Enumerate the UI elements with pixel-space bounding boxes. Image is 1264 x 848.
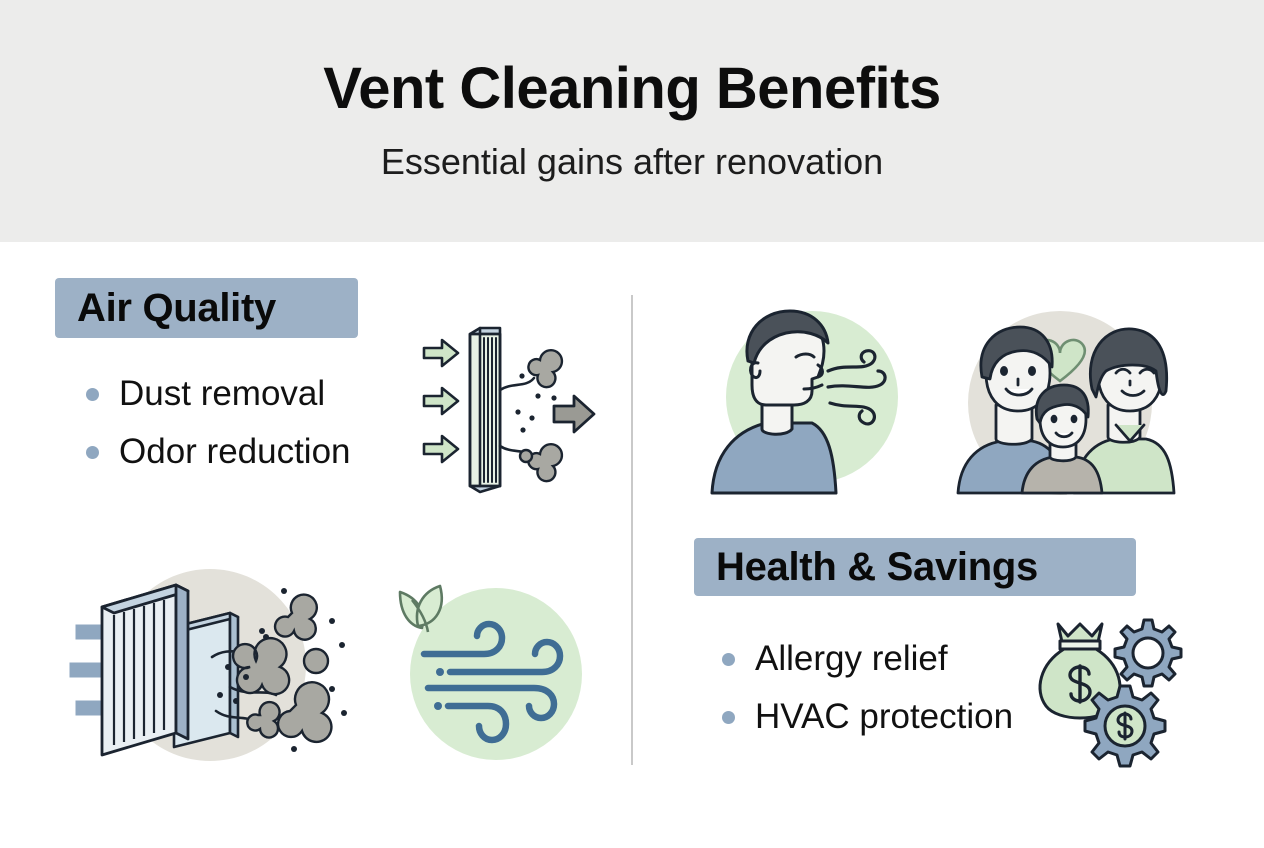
header-band: Vent Cleaning Benefits Essential gains a… <box>0 0 1264 242</box>
air-filter-dust-icon <box>70 565 370 780</box>
page-subtitle: Essential gains after renovation <box>381 141 883 183</box>
dust-blob <box>528 350 562 387</box>
list-item: Allergy relief <box>722 630 1013 688</box>
bullet-dot-icon <box>86 446 99 459</box>
page-title: Vent Cleaning Benefits <box>323 59 940 120</box>
gear-dollar-icon <box>1085 686 1165 766</box>
bullet-dot-icon <box>722 653 735 666</box>
section-heading-label: Air Quality <box>77 286 276 331</box>
bullet-dot-icon <box>86 388 99 401</box>
list-item-label: Allergy relief <box>755 639 948 679</box>
list-item-label: Dust removal <box>119 374 325 414</box>
list-item: Dust removal <box>86 365 351 423</box>
outgoing-dust-arrow <box>554 396 594 432</box>
section-heading-health-savings: Health & Savings <box>694 538 1136 596</box>
infographic-canvas: Vent Cleaning Benefits Essential gains a… <box>0 0 1264 848</box>
list-item-label: HVAC protection <box>755 697 1013 737</box>
gear-icon <box>1115 620 1181 686</box>
section-heading-label: Health & Savings <box>716 545 1038 590</box>
family-heart-icon <box>940 305 1180 495</box>
air-filter-arrows-icon <box>422 326 612 501</box>
dust-blob <box>528 444 562 481</box>
section-heading-air-quality: Air Quality <box>55 278 358 338</box>
list-item-label: Odor reduction <box>119 432 351 472</box>
money-bag-gears-icon <box>1024 612 1184 762</box>
bullet-list-air-quality: Dust removal Odor reduction <box>86 365 351 481</box>
vertical-divider <box>631 295 633 765</box>
bullet-dot-icon <box>722 711 735 724</box>
bullet-list-health-savings: Allergy relief HVAC protection <box>722 630 1013 746</box>
person-breathing-icon <box>700 305 915 495</box>
fresh-air-wind-leaf-icon <box>392 578 592 768</box>
incoming-air-arrow <box>424 340 458 462</box>
list-item: Odor reduction <box>86 423 351 481</box>
list-item: HVAC protection <box>722 688 1013 746</box>
